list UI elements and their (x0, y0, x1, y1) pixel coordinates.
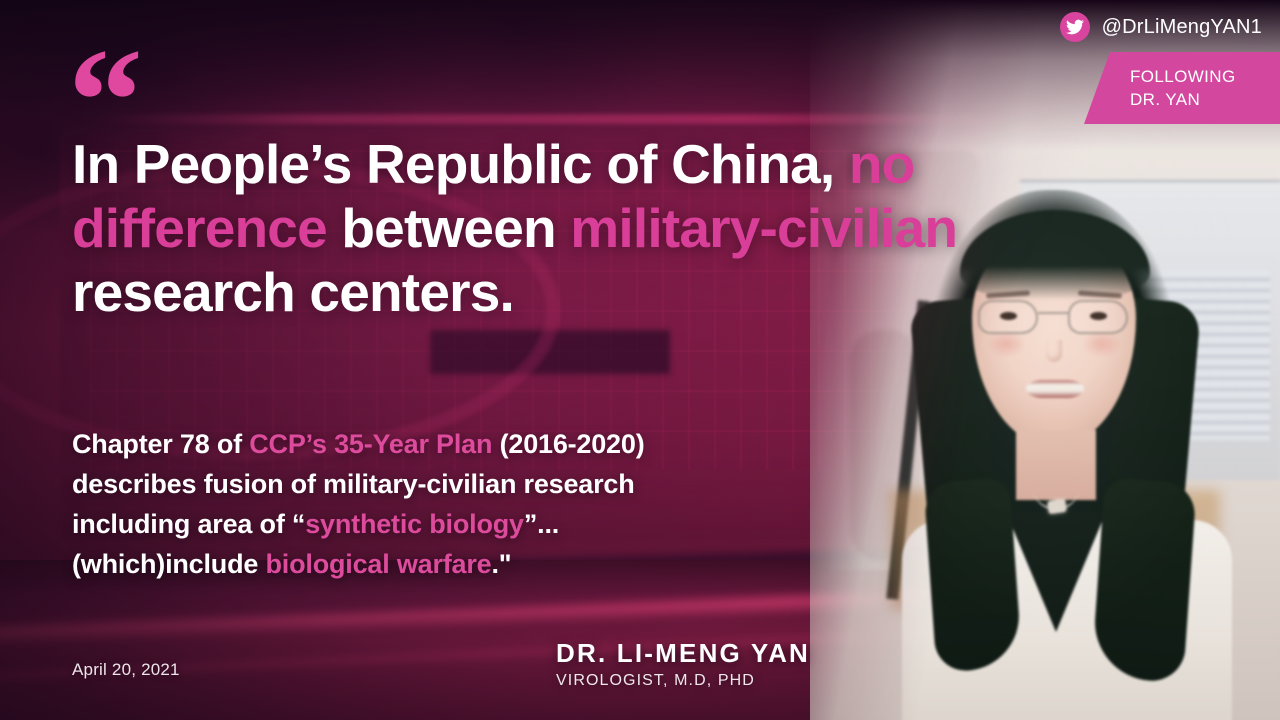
social-handle-row[interactable]: @DrLiMengYAN1 (1060, 12, 1262, 42)
speaker-role: VIROLOGIST, M.D, PHD (556, 672, 810, 690)
body-segment-3-0: (which)include (72, 549, 266, 579)
body-line-2: including area of “synthetic biology”... (72, 504, 832, 544)
headline-segment-4: military-civilian (570, 197, 957, 259)
body-line-0: Chapter 78 of CCP’s 35-Year Plan (2016-2… (72, 424, 832, 464)
quote-headline: In People’s Republic of China, no differ… (72, 132, 1002, 324)
body-segment-3-1: biological warfare (266, 549, 492, 579)
date-stamp: April 20, 2021 (72, 660, 180, 680)
quote-body-copy: Chapter 78 of CCP’s 35-Year Plan (2016-2… (72, 424, 832, 584)
quote-card: @DrLiMengYAN1 FOLLOWING DR. YAN “ In Peo… (0, 0, 1280, 720)
body-segment-2-0: including area of “ (72, 509, 305, 539)
body-line-1: describes fusion of military-civilian re… (72, 464, 832, 504)
headline-segment-3: between (327, 197, 570, 259)
body-line-3: (which)include biological warfare." (72, 544, 832, 584)
body-segment-0-1: CCP’s 35-Year Plan (249, 429, 492, 459)
speaker-name: DR. LI-MENG YAN (556, 638, 810, 669)
headline-segment-5: research centers. (72, 261, 514, 323)
following-banner-line2: DR. YAN (1130, 88, 1280, 111)
body-segment-2-1: synthetic biology (305, 509, 524, 539)
body-segment-3-2: ." (491, 549, 511, 579)
headline-segment-1 (834, 133, 848, 195)
following-banner-line1: FOLLOWING (1130, 65, 1280, 88)
body-segment-2-2: ”... (524, 509, 559, 539)
following-banner[interactable]: FOLLOWING DR. YAN (1084, 52, 1280, 124)
body-segment-0-0: Chapter 78 of (72, 429, 249, 459)
headline-segment-0: In People’s Republic of China, (72, 133, 834, 195)
body-segment-0-2: (2016-2020) (492, 429, 644, 459)
body-segment-1-0: describes fusion of military-civilian re… (72, 469, 635, 499)
twitter-bird-icon[interactable] (1060, 12, 1090, 42)
attribution-block: DR. LI-MENG YAN VIROLOGIST, M.D, PHD (556, 638, 810, 690)
social-handle-text: @DrLiMengYAN1 (1102, 16, 1262, 39)
